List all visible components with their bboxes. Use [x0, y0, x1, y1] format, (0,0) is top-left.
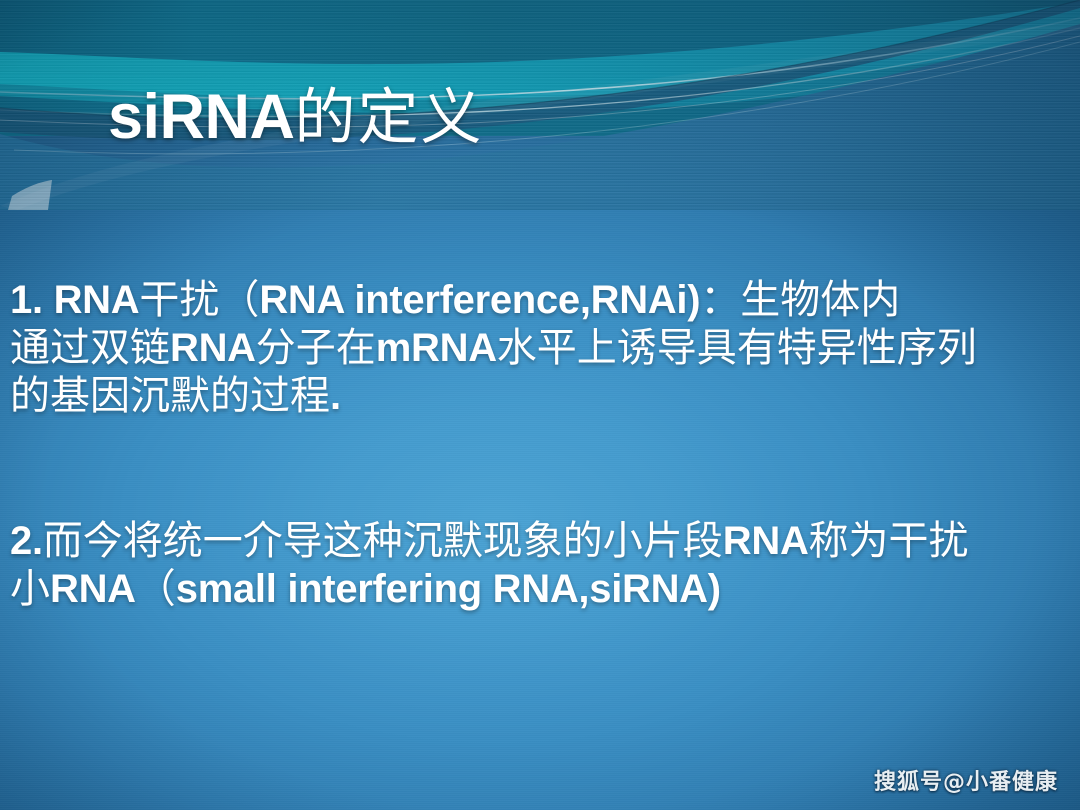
text-run: 称为干扰 — [809, 518, 969, 564]
text-run: mRNA — [376, 326, 497, 370]
text-run: 而今将统一介导这种沉默现象的小片段 — [43, 518, 723, 564]
slide-title-cjk: 的定义 — [295, 82, 484, 153]
text-run: ：生物体内 — [700, 277, 900, 323]
text-run: 水平上诱导具有特异性序列 — [497, 325, 977, 371]
text-run: small interfering RNA,siRNA) — [176, 567, 721, 611]
list-marker: 1. — [10, 278, 54, 322]
text-run: RNA — [50, 567, 136, 611]
body-line: 1. RNA干扰（RNA interference,RNAi)：生物体内 — [10, 276, 1072, 324]
text-run: RNA — [723, 519, 809, 563]
body-paragraph-1: 1. RNA干扰（RNA interference,RNAi)：生物体内 通过双… — [10, 276, 1072, 420]
text-run: . — [330, 374, 341, 418]
text-run: RNA interference,RNAi) — [259, 278, 700, 322]
body-line: 小RNA（small interfering RNA,siRNA) — [10, 565, 1072, 613]
text-run: 小 — [10, 566, 50, 612]
text-run: 分子在 — [256, 325, 376, 371]
body-paragraph-2: 2.而今将统一介导这种沉默现象的小片段RNA称为干扰 小RNA（small in… — [10, 517, 1072, 613]
list-marker: 2. — [10, 519, 43, 563]
text-run: （ — [136, 566, 176, 612]
body-line: 的基因沉默的过程. — [10, 372, 1072, 420]
text-run: RNA — [170, 326, 256, 370]
slide-canvas: siRNA的定义 1. RNA干扰（RNA interference,RNAi)… — [0, 0, 1080, 810]
text-run: 通过双链 — [10, 325, 170, 371]
body-line: 2.而今将统一介导这种沉默现象的小片段RNA称为干扰 — [10, 517, 1072, 565]
text-run: RNA — [54, 278, 140, 322]
slide-body: 1. RNA干扰（RNA interference,RNAi)：生物体内 通过双… — [10, 276, 1072, 613]
text-run: 干扰（ — [139, 277, 259, 323]
slide-title-latin: siRNA — [108, 82, 295, 152]
body-line: 通过双链RNA分子在mRNA水平上诱导具有特异性序列 — [10, 324, 1072, 372]
watermark: 搜狐号@小番健康 — [874, 764, 1058, 796]
text-run: 的基因沉默的过程 — [10, 373, 330, 419]
slide-title: siRNA的定义 — [108, 86, 484, 149]
